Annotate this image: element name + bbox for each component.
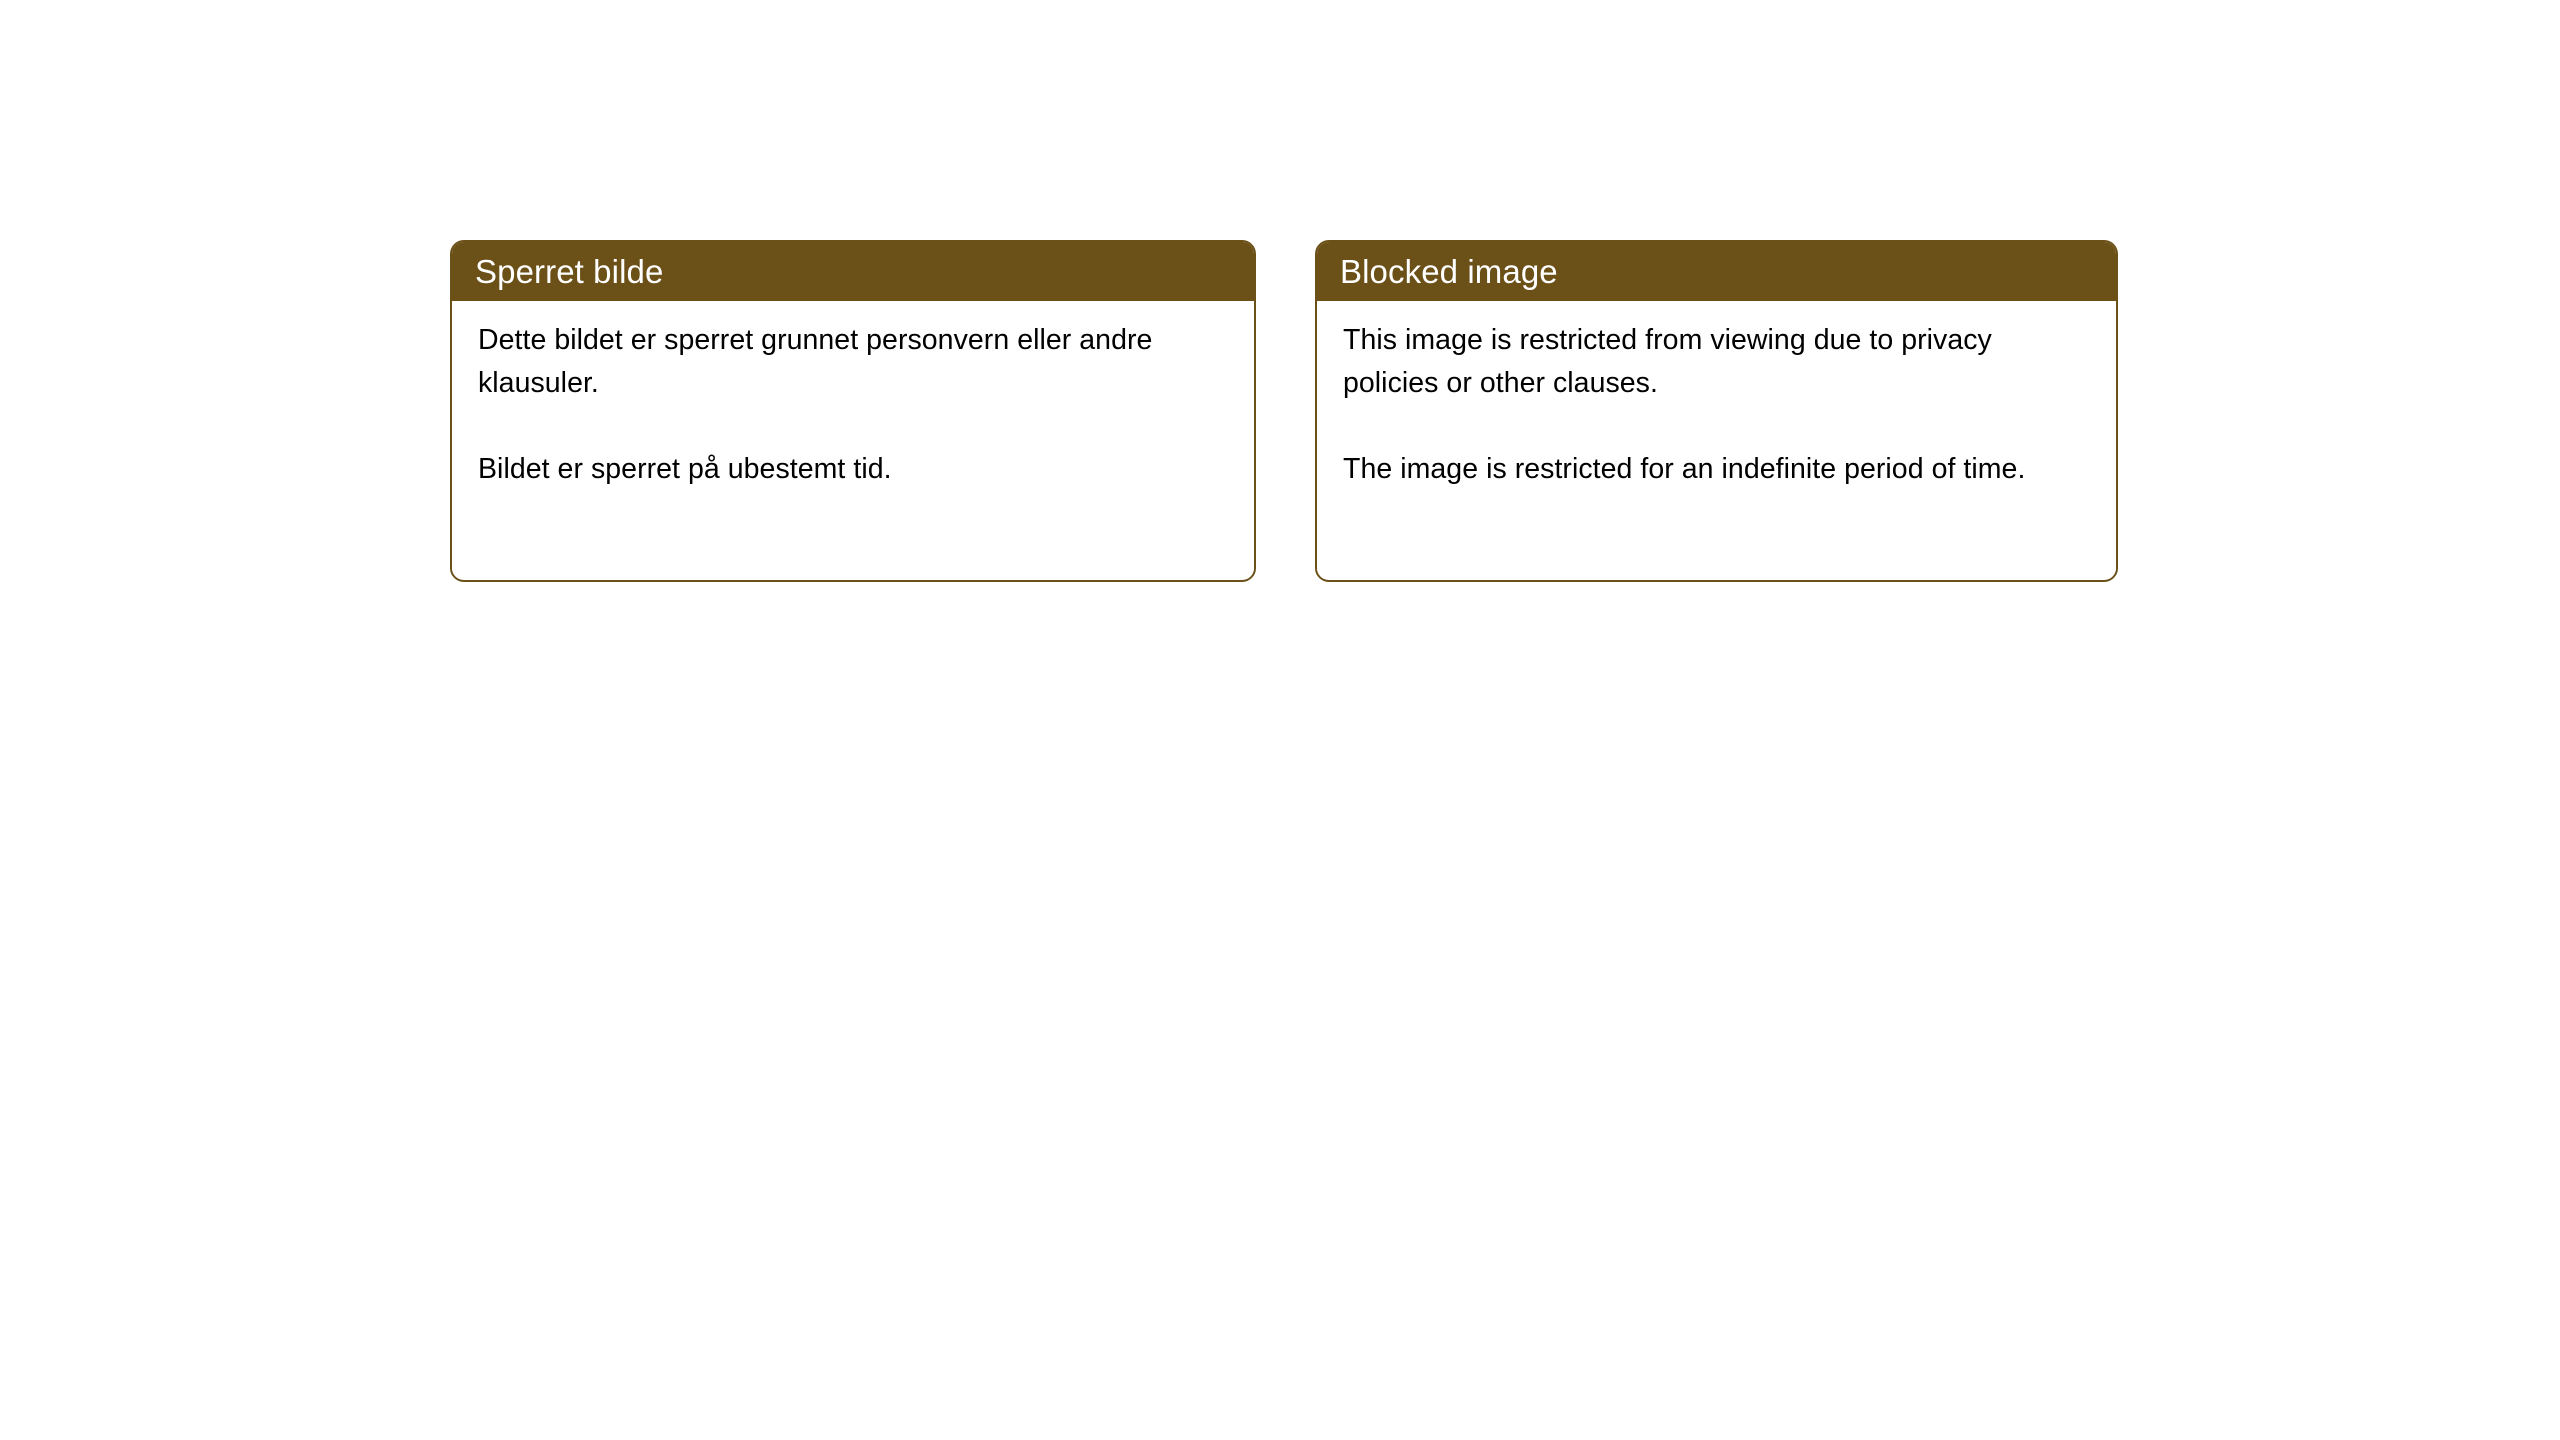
card-header-english: Blocked image	[1316, 241, 2117, 301]
page-canvas: Sperret bilde Dette bildet er sperret gr…	[0, 0, 2560, 1440]
blocked-image-notice-card-norwegian: Sperret bilde Dette bildet er sperret gr…	[450, 240, 1256, 582]
card-body-norwegian: Dette bildet er sperret grunnet personve…	[452, 301, 1254, 579]
card-paragraph-duration-english: The image is restricted for an indefinit…	[1343, 448, 2043, 491]
card-body-english: This image is restricted from viewing du…	[1317, 301, 2116, 579]
card-title-norwegian: Sperret bilde	[475, 255, 663, 288]
card-header-norwegian: Sperret bilde	[451, 241, 1255, 301]
card-paragraph-duration-norwegian: Bildet er sperret på ubestemt tid.	[478, 448, 1178, 491]
blocked-image-notice-card-english: Blocked image This image is restricted f…	[1315, 240, 2118, 582]
card-paragraph-reason-english: This image is restricted from viewing du…	[1343, 319, 2043, 405]
card-paragraph-reason-norwegian: Dette bildet er sperret grunnet personve…	[478, 319, 1178, 405]
card-title-english: Blocked image	[1340, 255, 1558, 288]
